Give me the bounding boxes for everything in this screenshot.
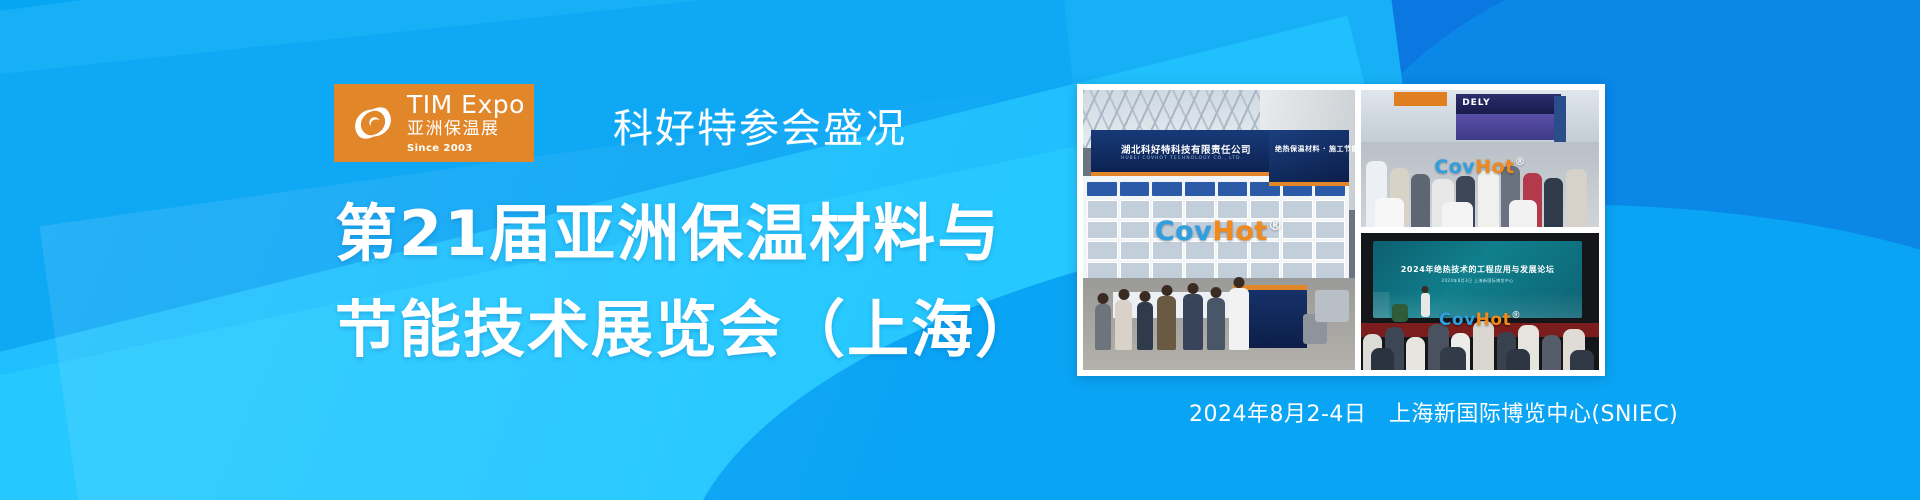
visitor-figure (1095, 304, 1111, 350)
visitor-figure (1207, 298, 1225, 350)
visitor-figure (1229, 288, 1249, 350)
booth-image-panels (1087, 200, 1345, 280)
forum-photo[interactable]: 2024年绝热技术的工程应用与发展论坛 2024年8月3日 上海新国际博览中心 (1361, 233, 1599, 370)
booth-slogan: 绝热保温材料 · 施工节能方案 (1275, 144, 1345, 154)
forum-screen-title: 2024年绝热技术的工程应用与发展论坛 (1373, 264, 1582, 275)
neighbor-orange-sign (1394, 92, 1446, 106)
banner-subtitle: 科好特参会盛况 (613, 96, 907, 154)
booth-header-banner: 湖北科好特科技有限责任公司 HUBEI COVHOT TECHNOLOGY CO… (1091, 130, 1273, 176)
visitor-figure (1157, 296, 1176, 350)
event-info-line: 2024年8月2-4日 上海新国际博览中心(SNIEC) (1189, 396, 1678, 428)
booth-photo[interactable]: 湖北科好特科技有限责任公司 HUBEI COVHOT TECHNOLOGY CO… (1083, 90, 1355, 370)
exhibition-hall-photo[interactable]: DELY (1361, 90, 1599, 227)
tim-swoosh-icon (345, 95, 401, 151)
audience-group (1361, 312, 1599, 370)
neighbor-display-wall (1456, 114, 1556, 140)
booth-company-name-cn: 湖北科好特科技有限责任公司 (1121, 142, 1269, 156)
expo-banner: TIM Expo 亚洲保温展 Since 2003 科好特参会盛况 第21届亚洲… (0, 0, 1920, 500)
logo-name-en: TIM Expo (407, 92, 525, 117)
neighbor-banner-text-en: DELY (1462, 98, 1490, 108)
booth-equipment (1315, 290, 1349, 322)
visitor-figure (1183, 294, 1203, 350)
tim-expo-logo[interactable]: TIM Expo 亚洲保温展 Since 2003 (334, 84, 534, 162)
page-title-line-2: 节能技术展览会（上海） (335, 282, 1039, 378)
collage-right-column: DELY (1361, 90, 1599, 370)
forum-screen-subtitle: 2024年8月3日 上海新国际博览中心 (1373, 278, 1582, 284)
page-title: 第21届亚洲保温材料与 节能技术展览会（上海） (335, 186, 1039, 378)
page-title-line-1: 第21届亚洲保温材料与 (335, 186, 1039, 282)
photo-collage: 湖北科好特科技有限责任公司 HUBEI COVHOT TECHNOLOGY CO… (1077, 84, 1605, 376)
logo-name-cn: 亚洲保温展 (407, 121, 525, 138)
crowd-group (1361, 142, 1599, 227)
neighbor-banner: DELY (1456, 94, 1561, 114)
logo-since-label: Since 2003 (407, 144, 525, 154)
visitor-figure (1137, 302, 1153, 350)
booth-side-banner: 绝热保温材料 · 施工节能方案 (1269, 130, 1349, 186)
booth-company-name-en: HUBEI COVHOT TECHNOLOGY CO., LTD. (1121, 156, 1269, 161)
visitor-figure (1115, 300, 1132, 350)
